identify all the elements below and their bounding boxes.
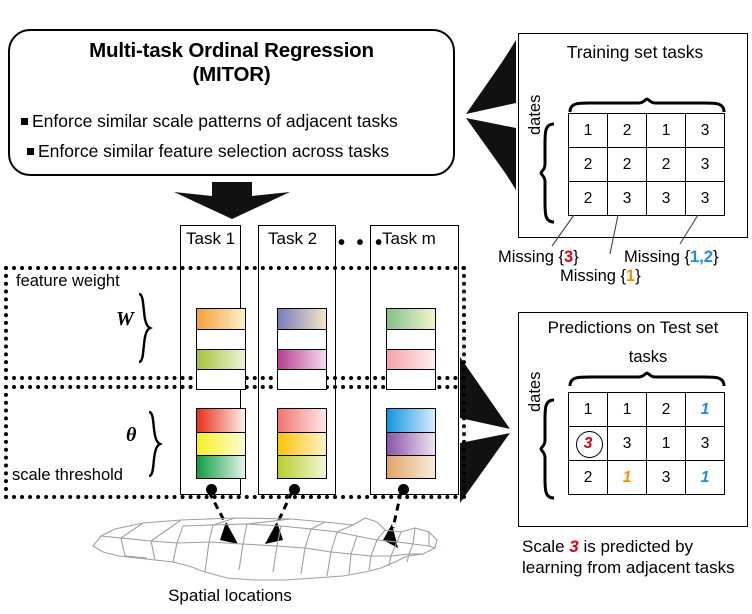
cell-value: 1 (701, 401, 710, 418)
table-cell: 1 (608, 393, 647, 427)
bullet-square-icon (27, 148, 34, 155)
gradient-cell (387, 329, 435, 349)
cell-value: 1 (662, 435, 671, 452)
cell-value: 1 (584, 122, 593, 139)
cell-value: 3 (623, 190, 632, 207)
gradient-cell (197, 309, 245, 329)
missing-b-prefix: Missing { (560, 267, 626, 285)
table-cell: 3 (569, 427, 608, 461)
training-dates-label: dates (526, 95, 545, 135)
cell-value: 2 (584, 469, 593, 486)
gradient-cell (197, 432, 245, 455)
table-cell: 1 (686, 461, 725, 495)
theta-symbol-label: θ (126, 424, 136, 447)
caption-prefix: Scale (522, 537, 569, 556)
training-set-table: 121322232333 (568, 113, 725, 216)
table-cell: 1 (647, 114, 686, 148)
mitor-title-line2: (MITOR) (193, 63, 271, 86)
missing-b-value: 1 (626, 267, 635, 285)
cell-value: 2 (662, 156, 671, 173)
gradient-cell (278, 309, 326, 329)
theta-gradient-stack-1 (196, 408, 246, 479)
predictions-caption: Scale 3 is predicted by learning from ad… (522, 536, 744, 578)
predictions-table: 112133132131 (568, 392, 725, 495)
w-gradient-stack-3 (386, 308, 436, 390)
table-cell: 2 (608, 114, 647, 148)
cell-value: 2 (584, 156, 593, 173)
mitor-bullet-1-text: Enforce similar scale patterns of adjace… (32, 111, 398, 131)
task-1-label: Task 1 (186, 228, 235, 250)
gradient-cell (197, 369, 245, 389)
us-map (85, 512, 445, 584)
table-row: 2131 (569, 461, 725, 495)
arrow-right-icon (458, 355, 518, 505)
table-cell: 3 (647, 461, 686, 495)
mitor-title: Multi-task Ordinal Regression (MITOR) (10, 39, 453, 87)
missing-b-suffix: } (635, 267, 641, 285)
theta-brace-icon (146, 410, 164, 478)
caption-scale-value: 3 (569, 537, 578, 556)
cell-value: 1 (584, 401, 593, 418)
w-brace-icon (136, 292, 154, 364)
arrow-down-icon (172, 182, 292, 220)
cell-value: 3 (701, 190, 710, 207)
gradient-cell (197, 349, 245, 369)
table-cell: 2 (608, 148, 647, 182)
gradient-cell (197, 409, 245, 432)
gradient-cell (387, 455, 435, 478)
mitor-bullet-2-text: Enforce similar feature selection across… (38, 141, 389, 161)
training-tasks-brace-icon (568, 98, 726, 114)
table-cell: 1 (569, 393, 608, 427)
cell-value: 2 (662, 401, 671, 418)
task-2-label: Task 2 (268, 228, 317, 250)
cell-value: 1 (701, 469, 710, 486)
cell-value: 1 (623, 401, 632, 418)
gradient-cell (278, 432, 326, 455)
mitor-summary-box: Multi-task Ordinal Regression (MITOR) En… (8, 29, 455, 176)
training-dates-brace-icon (540, 122, 556, 224)
gradient-cell (278, 329, 326, 349)
cell-value: 3 (701, 435, 710, 452)
cell-value: 3 (584, 435, 593, 453)
missing-label-b: Missing {1} (560, 267, 641, 286)
gradient-cell (387, 432, 435, 455)
bullet-square-icon (21, 118, 28, 125)
gradient-cell (387, 309, 435, 329)
cell-value: 3 (701, 156, 710, 173)
gradient-cell (197, 455, 245, 478)
theta-gradient-stack-3 (386, 408, 436, 479)
gradient-cell (197, 329, 245, 349)
gradient-cell (387, 369, 435, 389)
missing-a-prefix: Missing { (498, 248, 564, 266)
cell-value: 3 (662, 469, 671, 486)
scale-threshold-label: scale threshold (12, 466, 123, 485)
predictions-title: Predictions on Test set (520, 318, 746, 338)
w-gradient-stack-1 (196, 308, 246, 390)
table-cell: 2 (569, 148, 608, 182)
predictions-dates-label: dates (526, 372, 545, 412)
cell-value: 1 (662, 122, 671, 139)
table-row: 2223 (569, 148, 725, 182)
table-cell: 2 (569, 461, 608, 495)
table-cell: 1 (647, 427, 686, 461)
table-row: 1121 (569, 393, 725, 427)
gradient-cell (278, 455, 326, 478)
table-cell: 3 (686, 114, 725, 148)
task-m-label: Task m (382, 228, 436, 250)
predictions-dates-brace-icon (540, 398, 556, 500)
spatial-locations-label: Spatial locations (0, 586, 460, 606)
cell-value: 3 (623, 435, 632, 452)
cell-value: 2 (623, 156, 632, 173)
table-cell: 1 (569, 114, 608, 148)
gradient-cell (278, 349, 326, 369)
w-gradient-stack-2 (277, 308, 327, 390)
gradient-cell (387, 409, 435, 432)
gradient-cell (387, 349, 435, 369)
gradient-cell (278, 369, 326, 389)
gradient-cell (278, 409, 326, 432)
table-cell: 1 (608, 461, 647, 495)
table-cell: 1 (686, 393, 725, 427)
table-cell: 3 (608, 427, 647, 461)
table-cell: 2 (647, 148, 686, 182)
training-set-title: Training set tasks (540, 42, 730, 63)
table-row: 3313 (569, 427, 725, 461)
feature-weight-label: feature weight (16, 272, 120, 291)
cell-value: 2 (623, 122, 632, 139)
theta-gradient-stack-2 (277, 408, 327, 479)
mitor-bullet-1: Enforce similar scale patterns of adjace… (21, 111, 398, 131)
cell-value: 1 (623, 469, 632, 486)
table-cell: 3 (686, 148, 725, 182)
task-ellipsis: • • • (338, 232, 385, 255)
arrow-left-icon (458, 40, 518, 190)
cell-value: 3 (701, 122, 710, 139)
mitor-bullet-2: Enforce similar feature selection across… (27, 141, 389, 161)
table-cell: 3 (686, 427, 725, 461)
table-cell: 2 (647, 393, 686, 427)
w-symbol-label: W (116, 308, 134, 331)
table-row: 1213 (569, 114, 725, 148)
cell-value: 3 (662, 190, 671, 207)
predictions-tasks-brace-icon (568, 372, 726, 388)
cell-value: 2 (584, 190, 593, 207)
predictions-subtitle: tasks (568, 348, 728, 367)
missing-leader-lines (560, 210, 750, 255)
mitor-title-line1: Multi-task Ordinal Regression (89, 39, 374, 62)
